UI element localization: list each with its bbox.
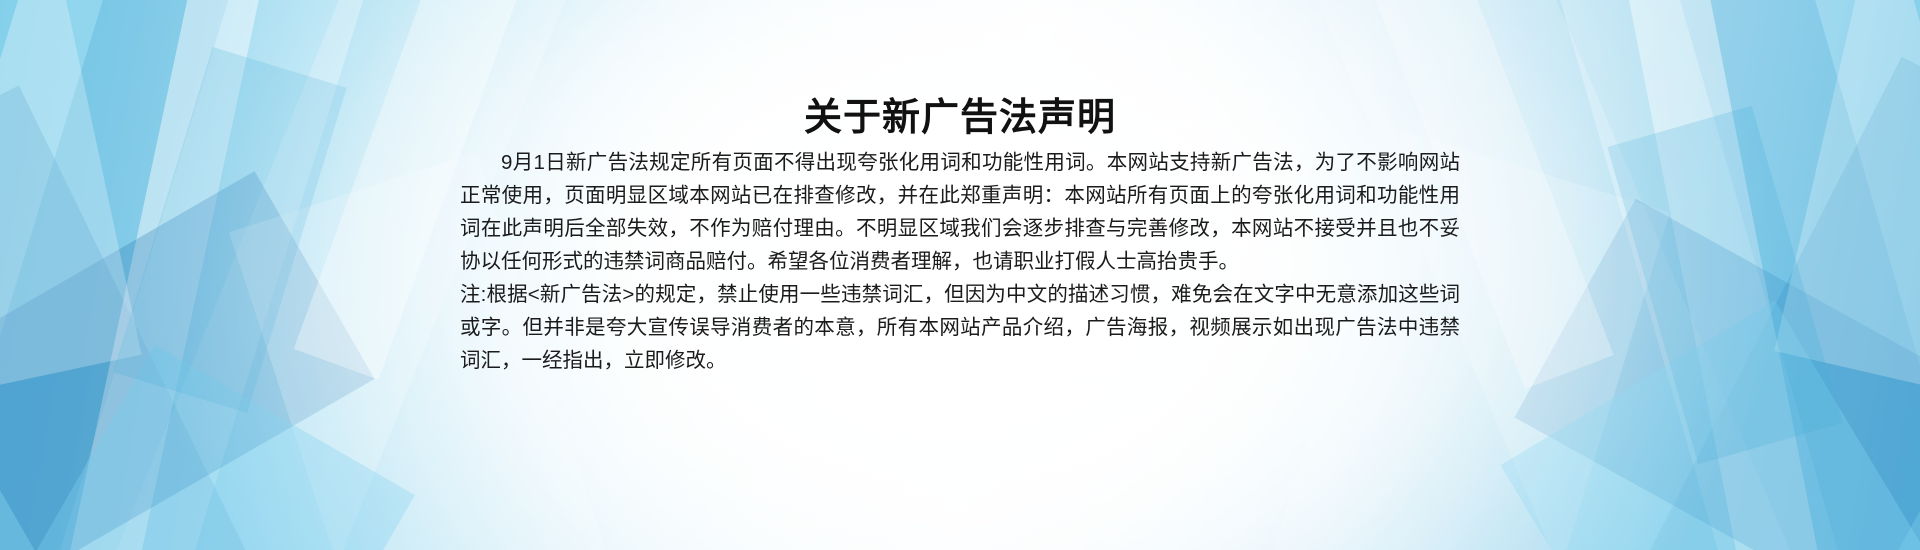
statement-paragraph-main: 9月1日新广告法规定所有页面不得出现夸张化用词和功能性用词。本网站支持新广告法，… xyxy=(460,146,1460,278)
statement-content: 关于新广告法声明 9月1日新广告法规定所有页面不得出现夸张化用词和功能性用词。本… xyxy=(0,0,1920,550)
page-title: 关于新广告法声明 xyxy=(0,86,1920,141)
advertising-law-statement-banner: 关于新广告法声明 9月1日新广告法规定所有页面不得出现夸张化用词和功能性用词。本… xyxy=(0,0,1920,550)
statement-body: 9月1日新广告法规定所有页面不得出现夸张化用词和功能性用词。本网站支持新广告法，… xyxy=(460,146,1460,377)
statement-paragraph-note: 注:根据<新广告法>的规定，禁止使用一些违禁词汇，但因为中文的描述习惯，难免会在… xyxy=(460,278,1460,377)
